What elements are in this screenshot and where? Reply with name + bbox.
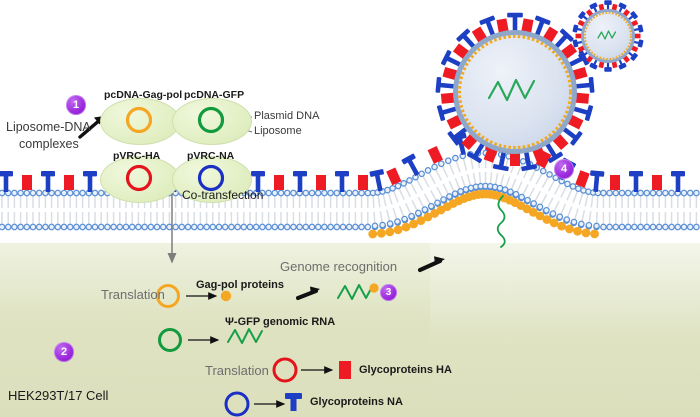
label-plasmid-dna: Plasmid DNA (254, 110, 319, 122)
label-cell-name: HEK293T/17 Cell (8, 388, 108, 403)
plasmid-ring-ha-top (128, 167, 151, 190)
step-badge-2[interactable]: 2 (54, 342, 74, 362)
label-glycoproteins-ha: Glycoproteins HA (359, 364, 452, 376)
plasmid-name-gfp: pcDNA-GFP (184, 89, 244, 101)
label-genome-recognition: Genome recognition (280, 259, 397, 274)
label-liposome-dna-complexes-line2: complexes (19, 137, 79, 151)
step-badge-1[interactable]: 1 (66, 95, 86, 115)
step-badge-4[interactable]: 4 (554, 159, 574, 179)
step-badge-3[interactable]: 3 (380, 284, 397, 301)
label-translation-1: Translation (101, 287, 165, 302)
label-gfp-genomic-rna: Ψ-GFP genomic RNA (225, 316, 335, 328)
label-glycoproteins-na: Glycoproteins NA (310, 396, 403, 408)
figure-canvas: 1 2 3 4 Liposome-DNA complexes pcDNA-Gag… (0, 0, 700, 417)
plasmid-name-na: pVRC-NA (187, 150, 234, 162)
plasmid-ring-gfp-top (200, 109, 223, 132)
plasmid-name-gagpol: pcDNA-Gag-pol (104, 89, 182, 101)
label-liposome: Liposome (254, 125, 302, 137)
label-translation-2: Translation (205, 363, 269, 378)
plasmid-ring-na-top (200, 167, 223, 190)
label-gag-pol-proteins: Gag-pol proteins (196, 279, 284, 291)
plasmid-name-ha: pVRC-HA (113, 150, 160, 162)
plasmid-rings-overlay (0, 0, 700, 417)
label-liposome-dna-complexes-line1: Liposome-DNA (6, 120, 91, 134)
plasmid-ring-gagpol-top (128, 109, 151, 132)
label-co-transfection: Co-transfection (182, 188, 263, 202)
